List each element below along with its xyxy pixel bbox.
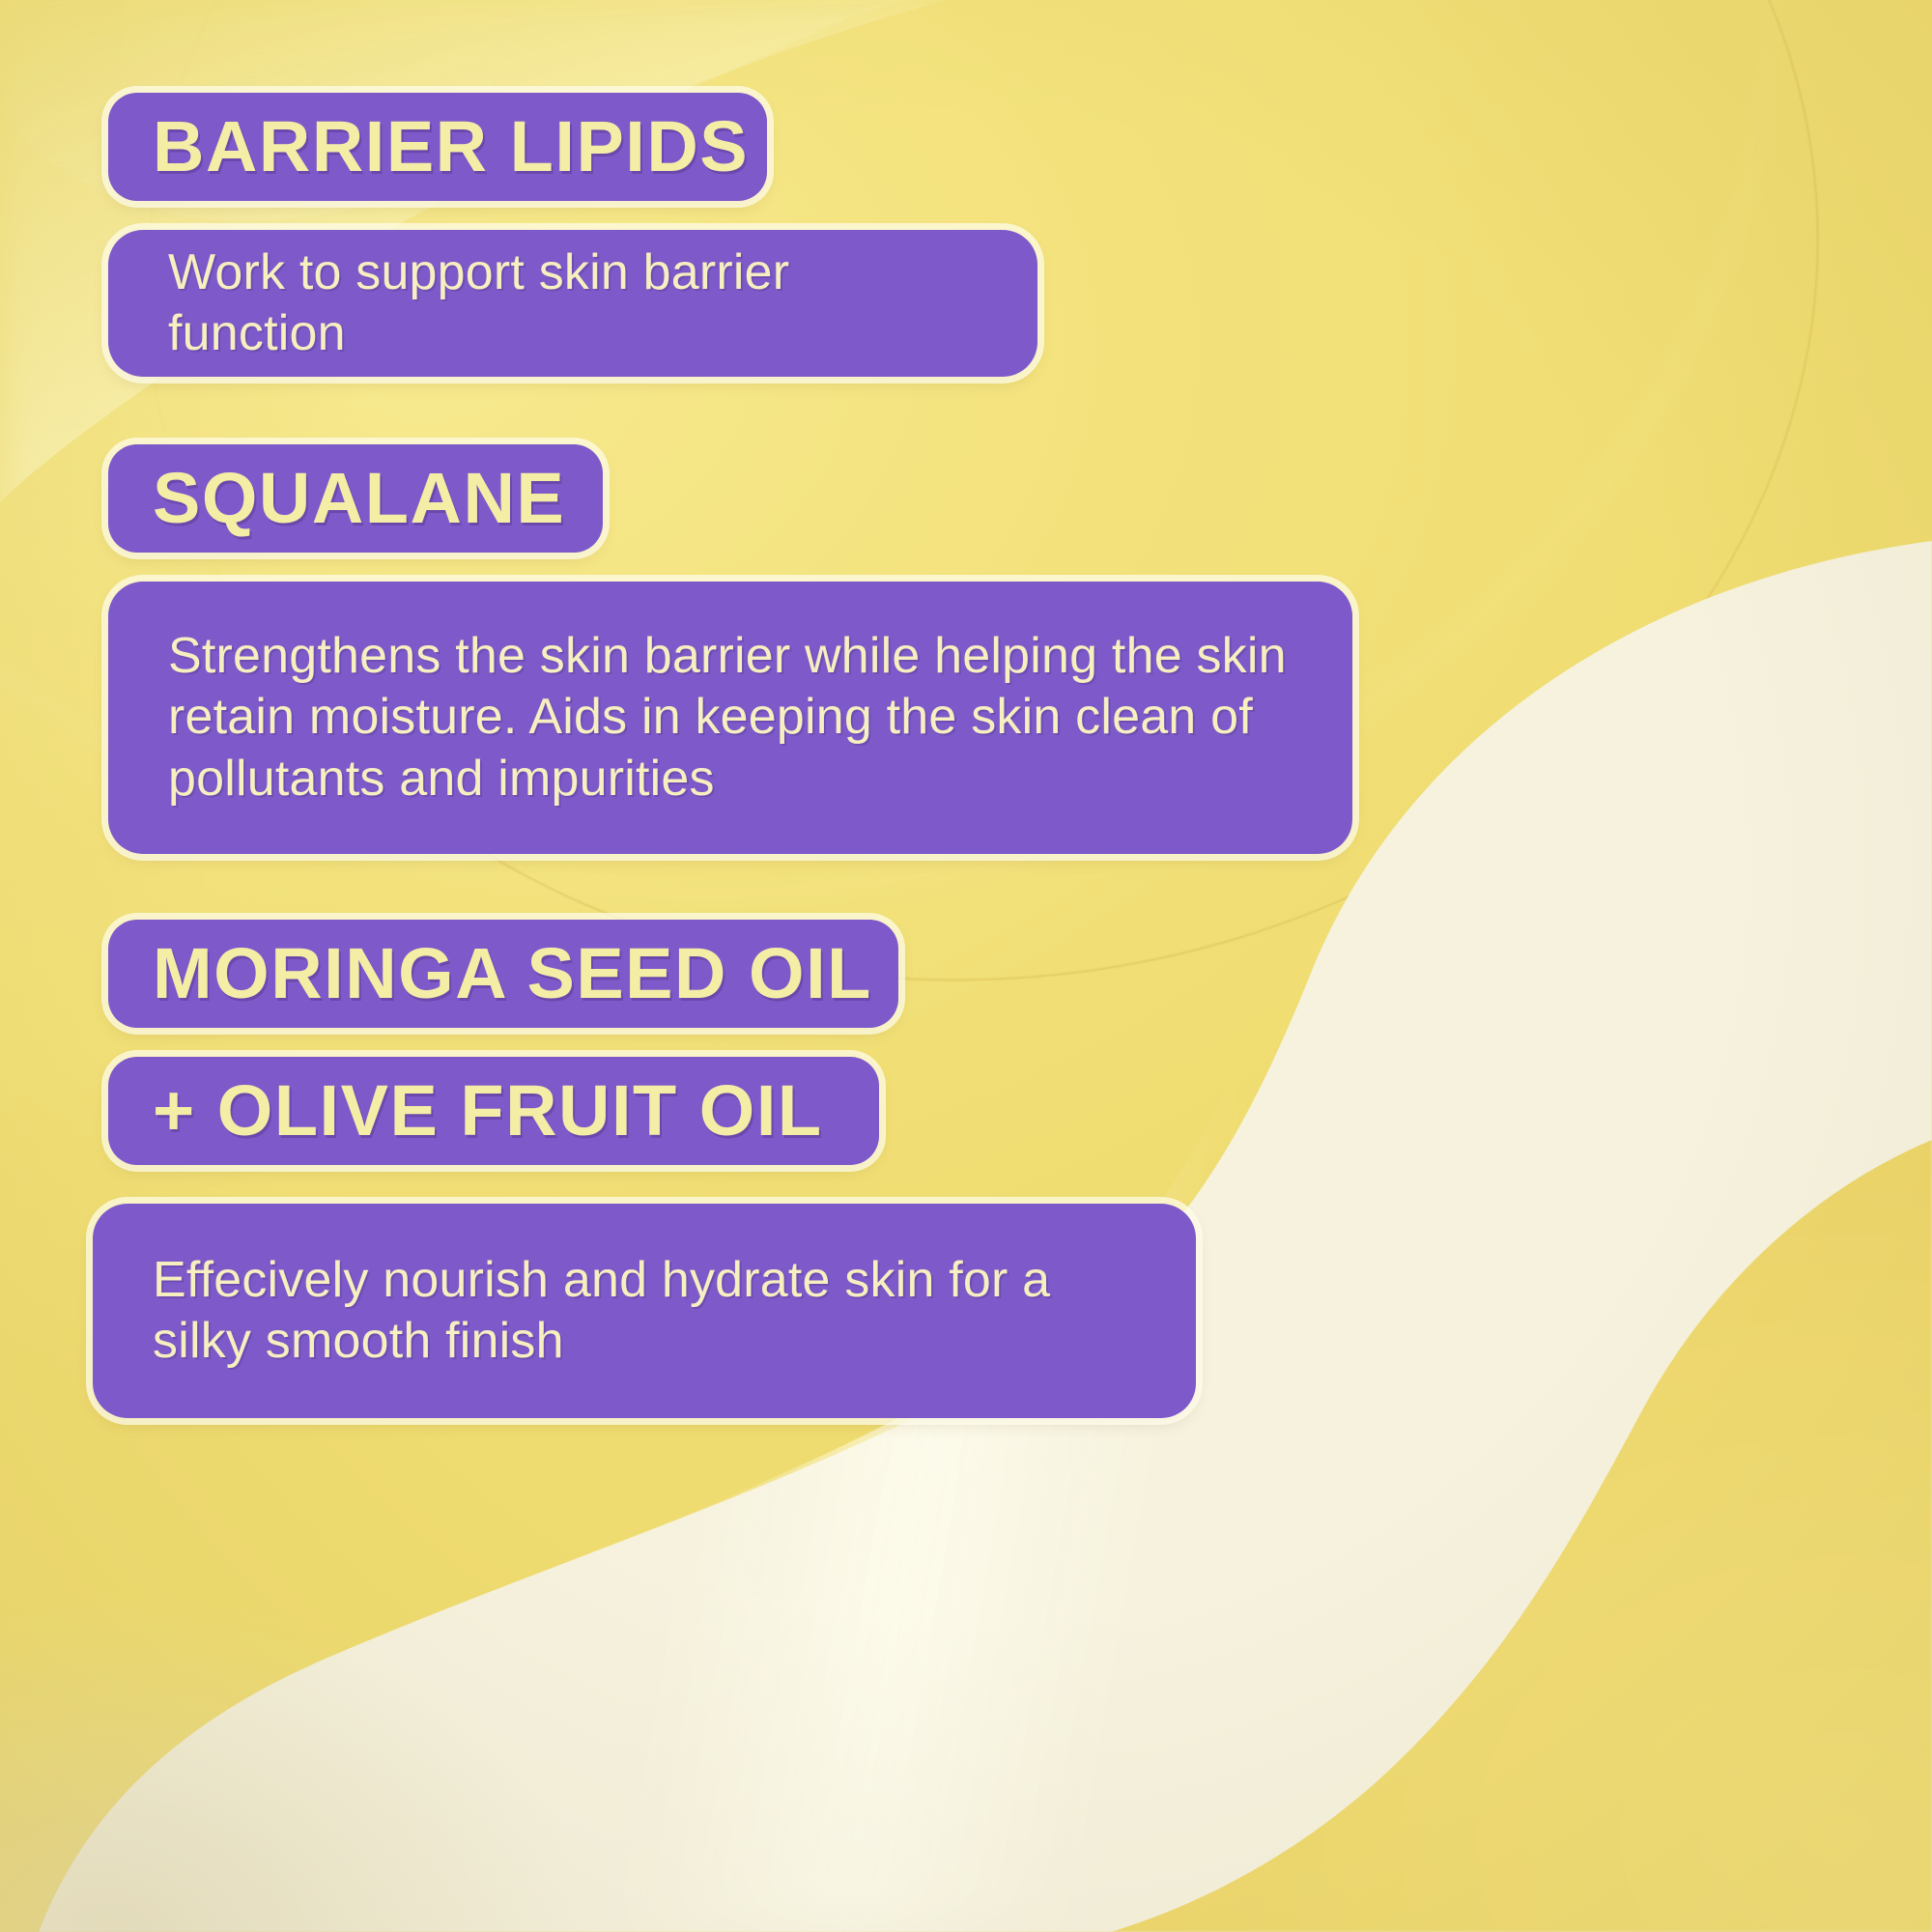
section-moringa-seed-oil-title-card: MORINGA SEED OIL (108, 920, 898, 1028)
section-olive-fruit-oil-title-card: + OLIVE FRUIT OIL (108, 1057, 879, 1165)
olive-fruit-oil-title: + OLIVE FRUIT OIL (153, 1075, 823, 1147)
section-moringa-olive-description-card: Effecively nourish and hydrate skin for … (93, 1204, 1196, 1418)
section-barrier-lipids-title-card: BARRIER LIPIDS (108, 93, 767, 201)
squalane-description: Strengthens the skin barrier while helpi… (168, 626, 1293, 810)
section-squalane-title-card: SQUALANE (108, 444, 603, 553)
squalane-title: SQUALANE (153, 463, 565, 534)
moringa-olive-description: Effecively nourish and hydrate skin for … (153, 1250, 1136, 1373)
section-squalane-description-card: Strengthens the skin barrier while helpi… (108, 582, 1352, 854)
moringa-seed-oil-title: MORINGA SEED OIL (153, 938, 872, 1009)
section-barrier-lipids-description-card: Work to support skin barrier function (108, 230, 1037, 377)
barrier-lipids-title: BARRIER LIPIDS (153, 111, 749, 183)
ingredient-benefits-infographic: BARRIER LIPIDS Work to support skin barr… (0, 0, 1932, 1932)
barrier-lipids-description: Work to support skin barrier function (168, 242, 978, 365)
